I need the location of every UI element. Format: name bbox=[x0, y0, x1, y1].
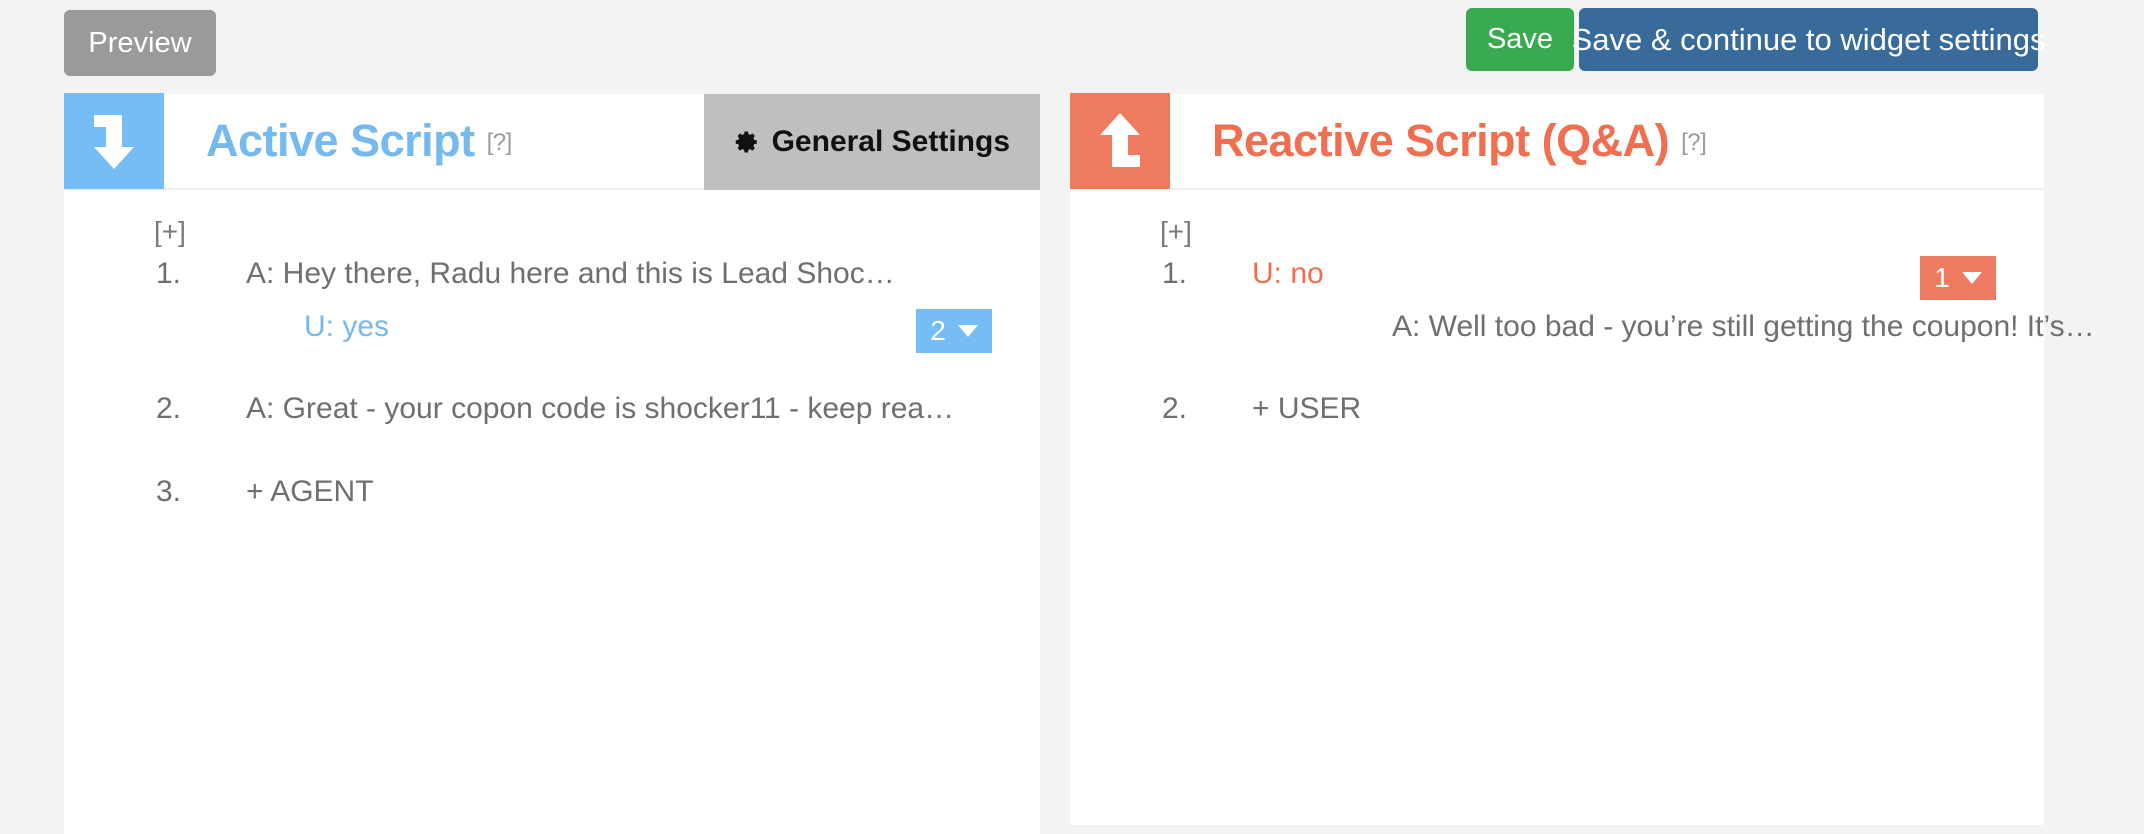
active-script-expand-all[interactable]: [+] bbox=[154, 216, 186, 248]
script-row[interactable]: 2. A: Great - your copon code is shocker… bbox=[64, 383, 1040, 436]
script-row-agent[interactable]: A: Well too bad - you’re still getting t… bbox=[1070, 301, 2044, 354]
branch-count-badge[interactable]: 2 bbox=[916, 309, 992, 353]
row-number: 1. bbox=[1070, 254, 1170, 295]
script-row-add-user[interactable]: 2. + USER bbox=[1070, 383, 2044, 436]
reactive-script-expand-all[interactable]: [+] bbox=[1160, 216, 1192, 248]
row-agent-text[interactable]: A: Well too bad - you’re still getting t… bbox=[1170, 307, 2095, 348]
reactive-script-title-text: Reactive Script (Q&A) bbox=[1212, 115, 1669, 166]
active-script-help-icon[interactable]: [?] bbox=[487, 129, 512, 156]
row-number: 1. bbox=[64, 254, 164, 295]
branch-count-value: 1 bbox=[1934, 262, 1950, 294]
script-row[interactable]: 1. A: Hey there, Radu here and this is L… bbox=[64, 248, 1040, 301]
branch-count-badge[interactable]: 1 bbox=[1920, 256, 1996, 300]
row-spacer bbox=[64, 436, 1040, 466]
row-user-text[interactable]: U: no bbox=[1170, 254, 1324, 295]
script-row-add-agent[interactable]: 3. + AGENT bbox=[64, 466, 1040, 519]
chevron-down-icon bbox=[1962, 272, 1982, 284]
reactive-script-body: [+] 1. U: no 1 A: Well too bad - you’re … bbox=[1070, 190, 2044, 436]
reactive-script-help-icon[interactable]: [?] bbox=[1681, 129, 1706, 156]
script-editor-page: Preview Save Save & continue to widget s… bbox=[0, 0, 2144, 834]
reactive-script-panel: Reactive Script (Q&A)[?] [+] 1. U: no 1 … bbox=[1070, 94, 2044, 825]
chevron-down-icon bbox=[958, 325, 978, 337]
row-number: 3. bbox=[64, 472, 164, 513]
row-agent-text[interactable]: A: Great - your copon code is shocker11 … bbox=[164, 389, 954, 430]
reactive-script-header: Reactive Script (Q&A)[?] bbox=[1070, 94, 2044, 190]
active-script-body: [+] 1. A: Hey there, Radu here and this … bbox=[64, 190, 1040, 518]
active-script-title: Active Script[?] bbox=[206, 115, 512, 167]
row-number: 2. bbox=[1070, 389, 1170, 430]
add-user-label[interactable]: + USER bbox=[1170, 389, 1361, 430]
tab-general-settings-label: General Settings bbox=[772, 125, 1010, 159]
preview-button[interactable]: Preview bbox=[64, 10, 216, 76]
row-spacer bbox=[1070, 353, 2044, 383]
add-agent-label[interactable]: + AGENT bbox=[164, 472, 374, 513]
top-toolbar: Preview Save Save & continue to widget s… bbox=[0, 0, 2144, 92]
row-user-text[interactable]: U: yes bbox=[164, 307, 389, 348]
script-row[interactable]: 1. U: no 1 bbox=[1070, 248, 2044, 301]
arrow-down-hook-icon bbox=[64, 93, 164, 189]
active-script-header: Active Script[?] General Settings bbox=[64, 94, 1040, 190]
save-button[interactable]: Save bbox=[1466, 8, 1574, 71]
branch-count-value: 2 bbox=[930, 315, 946, 347]
row-agent-text[interactable]: A: Hey there, Radu here and this is Lead… bbox=[164, 254, 895, 295]
active-script-panel: Active Script[?] General Settings [+] 1.… bbox=[64, 94, 1040, 834]
gear-icon bbox=[734, 129, 760, 155]
arrow-up-hook-icon bbox=[1070, 93, 1170, 189]
active-script-title-text: Active Script bbox=[206, 115, 475, 166]
script-row-user[interactable]: U: yes 2 bbox=[64, 301, 1040, 354]
row-spacer bbox=[64, 353, 1040, 383]
save-and-continue-button[interactable]: Save & continue to widget settings bbox=[1579, 8, 2038, 71]
row-number: 2. bbox=[64, 389, 164, 430]
tab-general-settings[interactable]: General Settings bbox=[704, 94, 1040, 190]
reactive-script-title: Reactive Script (Q&A)[?] bbox=[1212, 115, 1706, 167]
